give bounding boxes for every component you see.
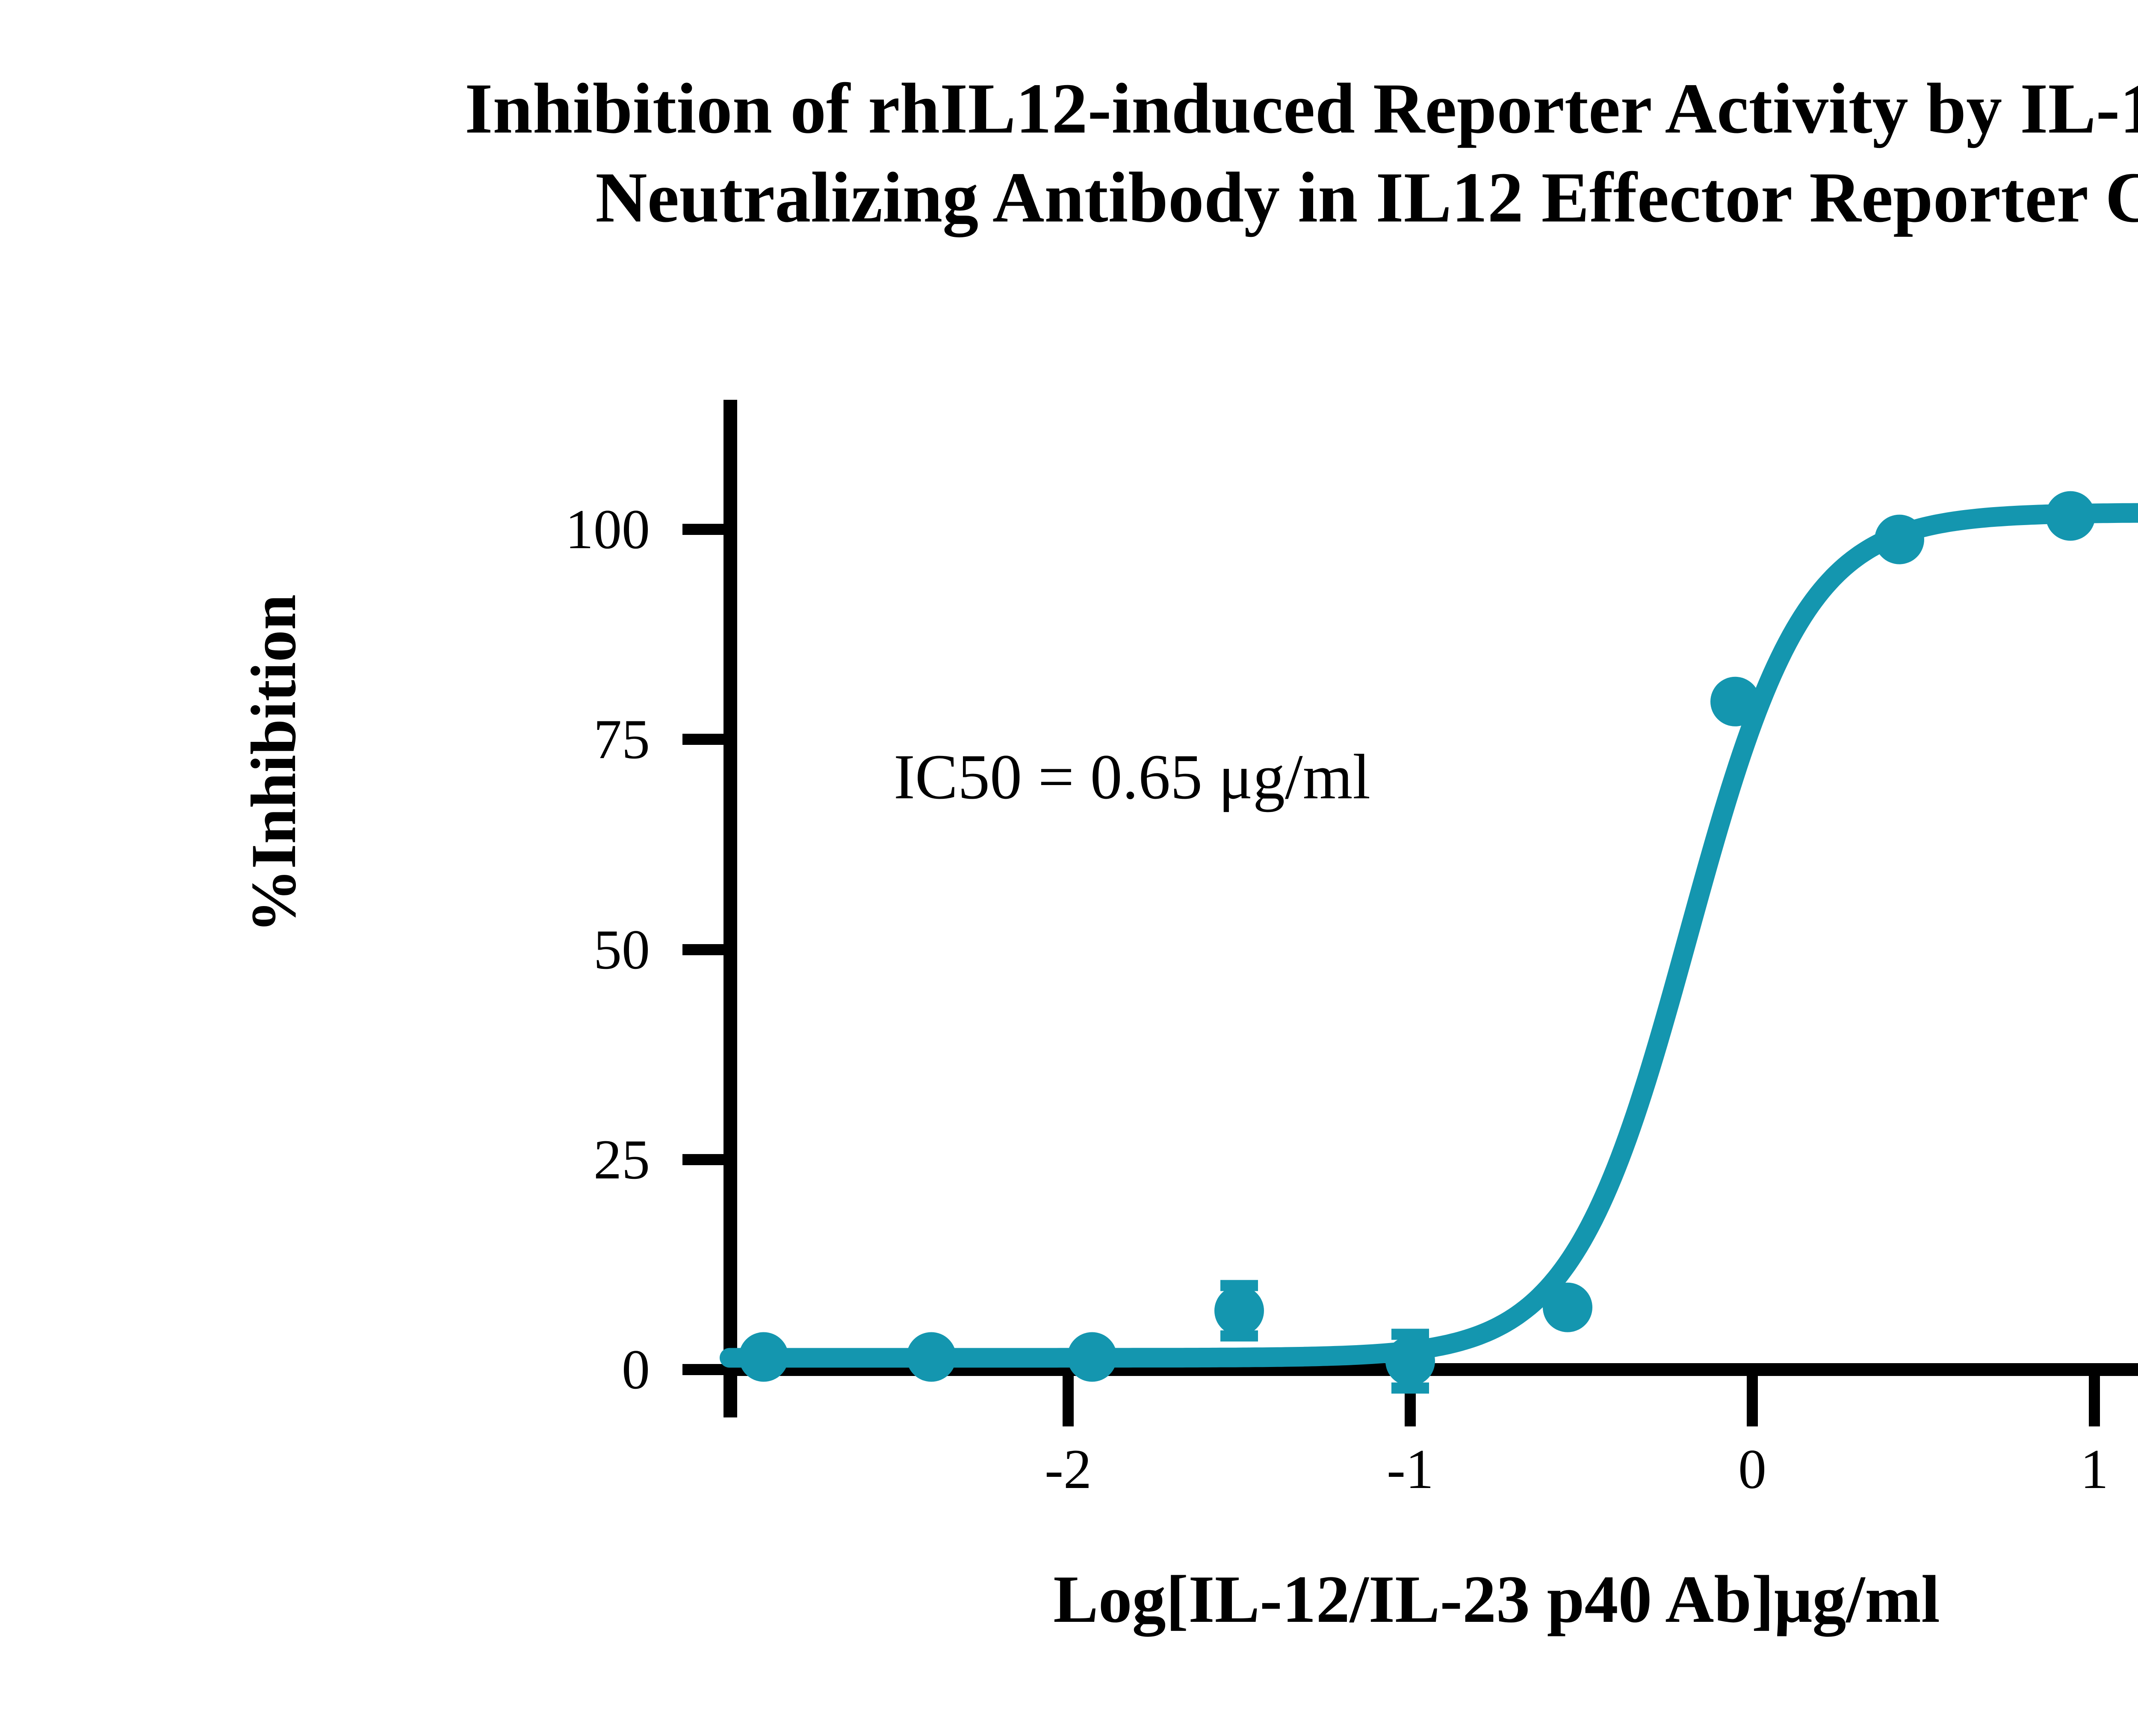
figure-root: Inhibition of rhIL12-induced Reporter Ac… bbox=[0, 0, 2138, 1736]
data-point-marker bbox=[1710, 677, 1760, 726]
data-point-marker bbox=[2046, 491, 2095, 541]
data-point-marker bbox=[1385, 1336, 1435, 1386]
data-point-marker bbox=[1214, 1286, 1264, 1335]
data-point-marker bbox=[1875, 515, 1924, 564]
data-point-marker bbox=[1067, 1332, 1117, 1382]
data-point-marker bbox=[739, 1332, 788, 1382]
data-point-marker bbox=[907, 1332, 956, 1382]
data-point-marker bbox=[1543, 1283, 1592, 1332]
series-overlay bbox=[0, 0, 2138, 1736]
fit-curve bbox=[729, 513, 2138, 1358]
data-markers bbox=[739, 489, 2138, 1386]
